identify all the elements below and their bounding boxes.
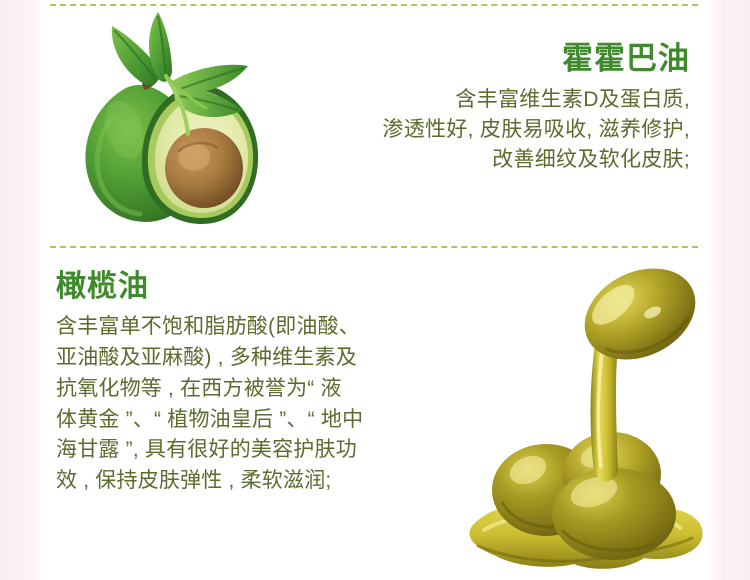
jojoba-body-line-1: 含丰富维生素D及蛋白质,: [260, 85, 690, 115]
jojoba-body-line-3: 改善细纹及软化皮肤;: [260, 145, 690, 175]
olive-text-block: 橄榄油 含丰富单不饱和脂肪酸(即油酸、 亚油酸及亚麻酸) , 多种维生素及 抗氧…: [56, 270, 456, 497]
jojoba-body-line-2: 渗透性好, 皮肤易吸收, 滋养修护,: [260, 115, 690, 145]
section-olive: 橄榄油 含丰富单不饱和脂肪酸(即油酸、 亚油酸及亚麻酸) , 多种维生素及 抗氧…: [42, 248, 708, 580]
avocado-illustration: [54, 10, 284, 238]
section-jojoba: 霍霍巴油 含丰富维生素D及蛋白质, 渗透性好, 皮肤易吸收, 滋养修护, 改善细…: [42, 4, 708, 246]
olive-body-line-1: 含丰富单不饱和脂肪酸(即油酸、: [56, 312, 456, 343]
olive-body: 含丰富单不饱和脂肪酸(即油酸、 亚油酸及亚麻酸) , 多种维生素及 抗氧化物等 …: [56, 312, 456, 497]
olive-body-line-2: 亚油酸及亚麻酸) , 多种维生素及: [56, 343, 456, 374]
content-card: 霍霍巴油 含丰富维生素D及蛋白质, 渗透性好, 皮肤易吸收, 滋养修护, 改善细…: [42, 0, 708, 580]
jojoba-body: 含丰富维生素D及蛋白质, 渗透性好, 皮肤易吸收, 滋养修护, 改善细纹及软化皮…: [260, 85, 690, 174]
olive-body-line-6: 效 , 保持皮肤弹性 , 柔软滋润;: [56, 466, 456, 497]
olive-body-line-5: 海甘露 ”, 具有很好的美容护肤功: [56, 435, 456, 466]
ingredient-panel: 霍霍巴油 含丰富维生素D及蛋白质, 渗透性好, 皮肤易吸收, 滋养修护, 改善细…: [0, 0, 750, 580]
olive-body-line-3: 抗氧化物等 , 在西方被誉为“ 液: [56, 374, 456, 405]
olive-body-line-4: 体黄金 ”、“ 植物油皇后 ”、“ 地中: [56, 405, 456, 436]
jojoba-text-block: 霍霍巴油 含丰富维生素D及蛋白质, 渗透性好, 皮肤易吸收, 滋养修护, 改善细…: [260, 42, 690, 175]
left-gutter: [0, 0, 42, 580]
olives-with-oil-illustration: [454, 258, 714, 578]
right-gutter: [708, 0, 750, 580]
jojoba-title: 霍霍巴油: [260, 42, 690, 76]
olive-title: 橄榄油: [56, 270, 456, 303]
